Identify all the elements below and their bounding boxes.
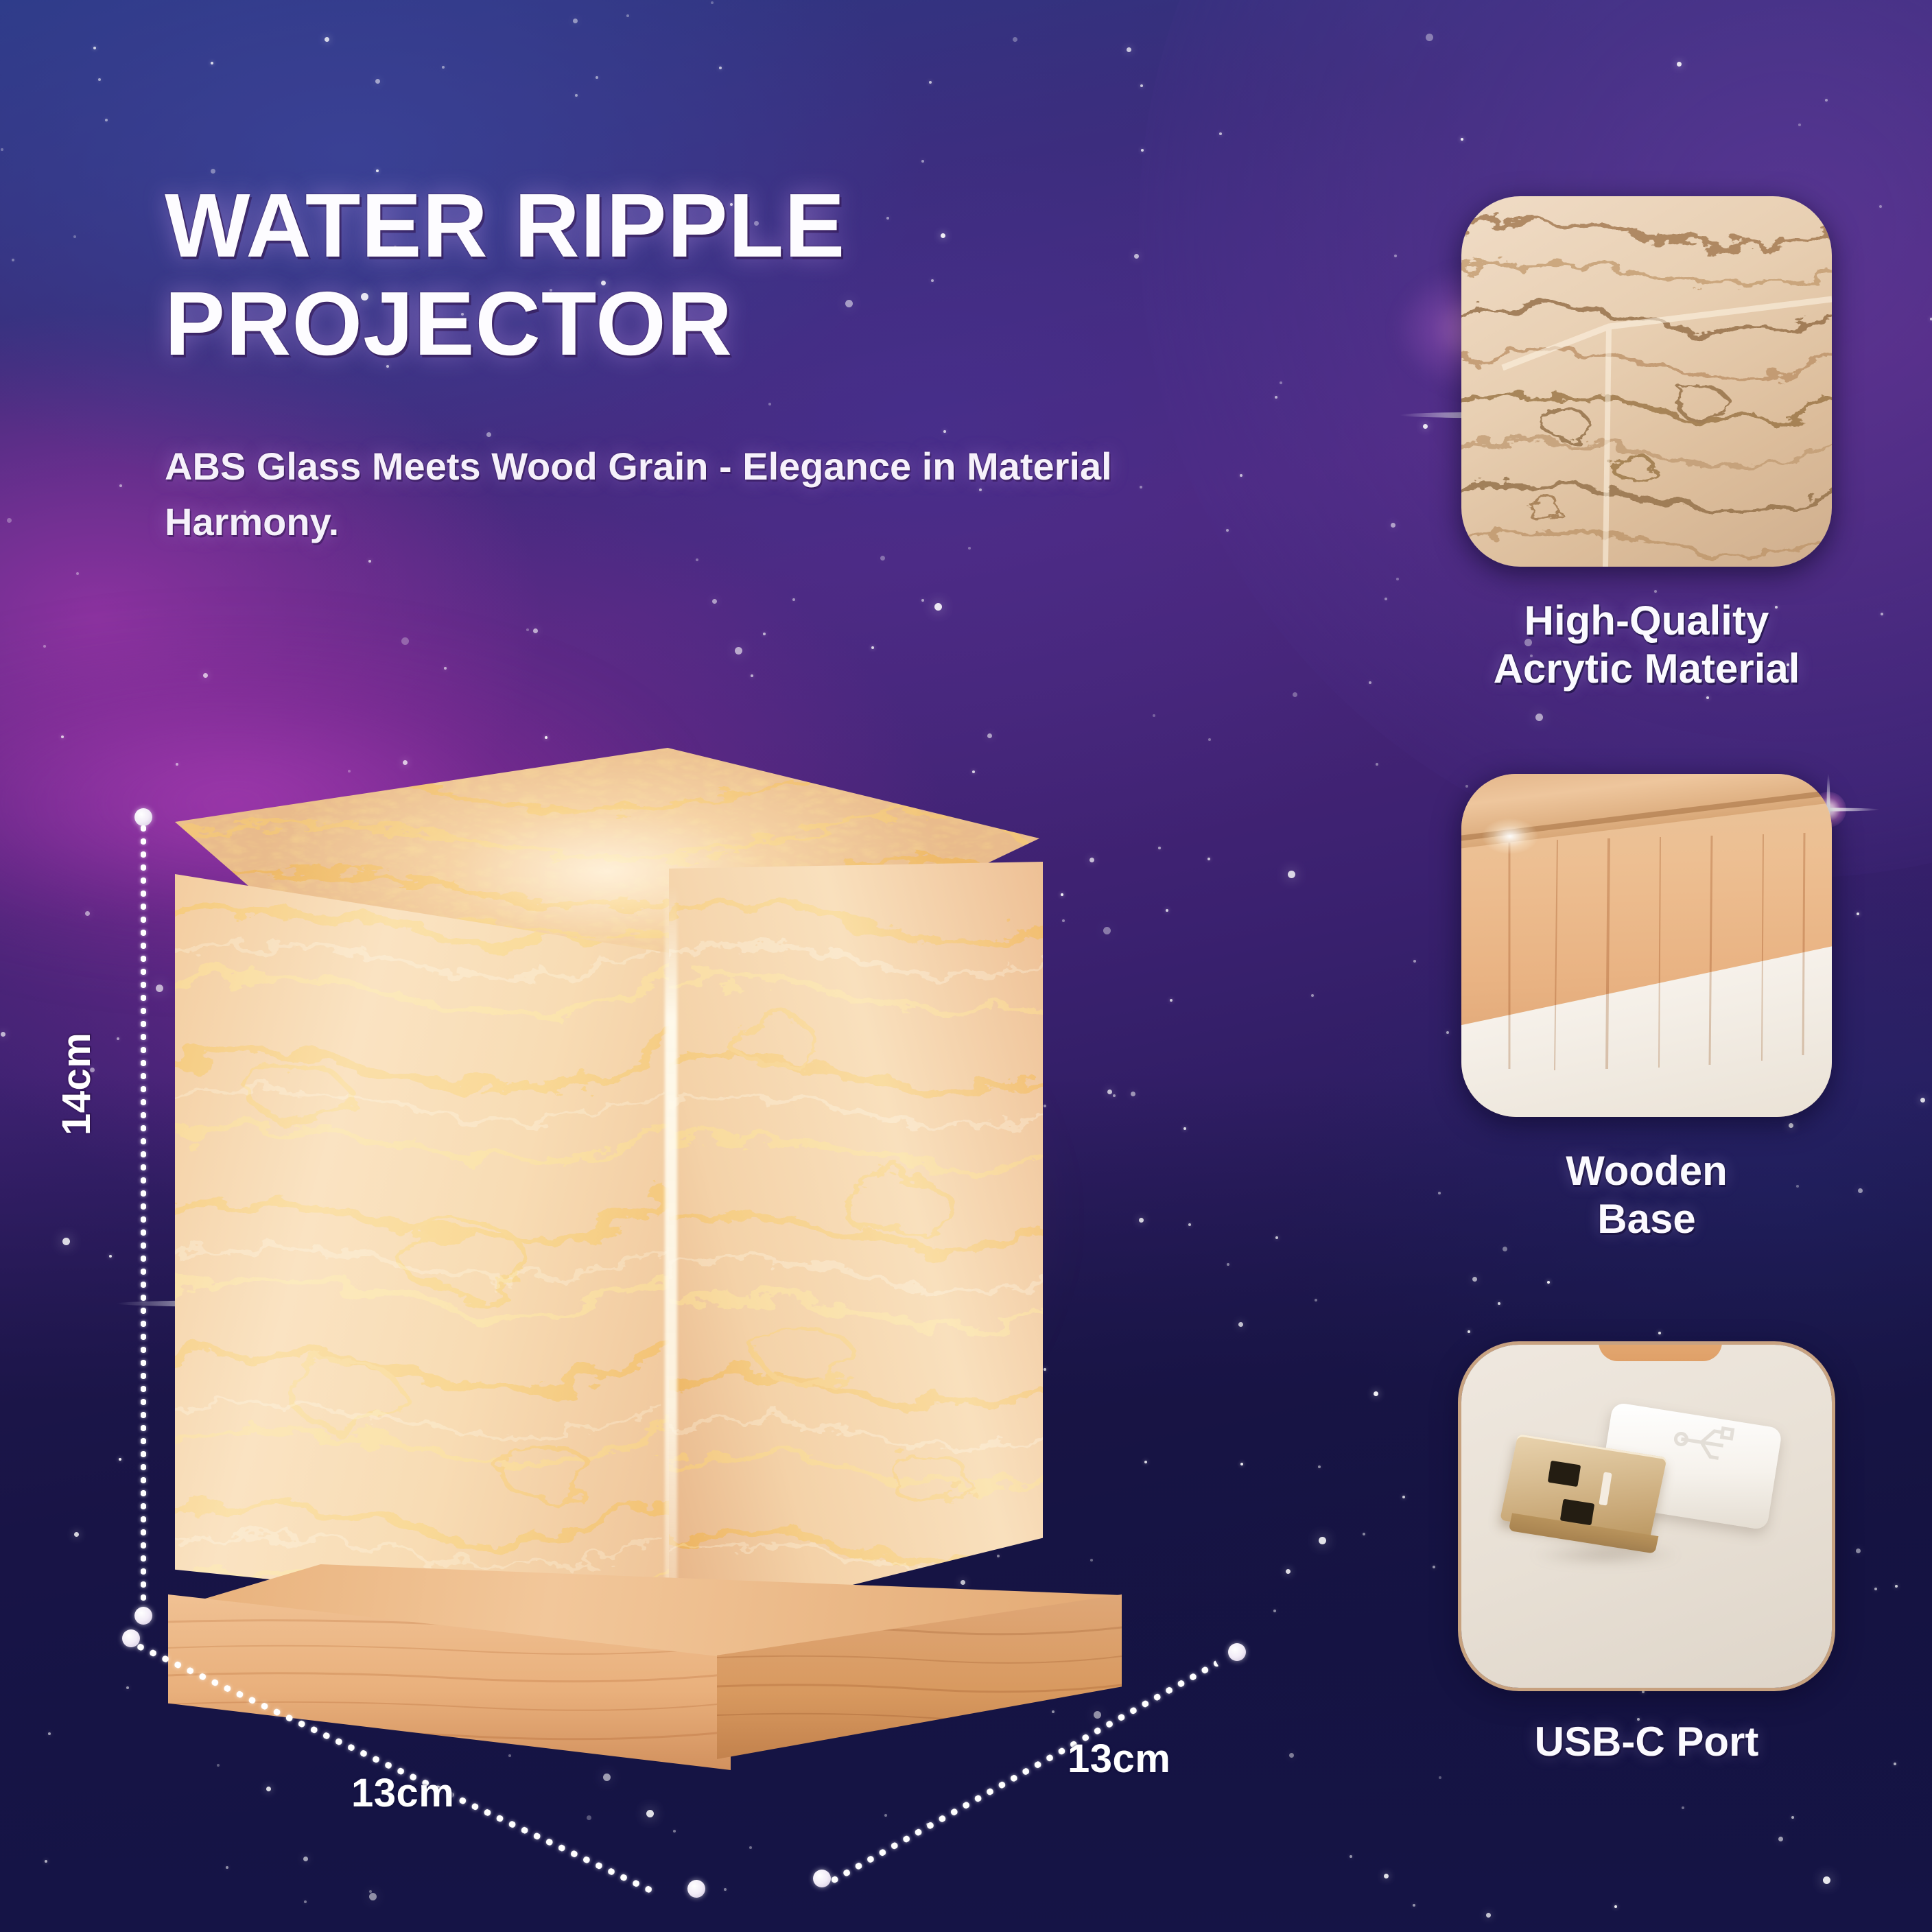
star bbox=[1823, 1876, 1830, 1884]
star bbox=[369, 1893, 377, 1900]
star bbox=[646, 1810, 654, 1817]
star bbox=[1384, 1874, 1389, 1878]
star bbox=[749, 1846, 752, 1849]
star bbox=[376, 169, 379, 172]
star bbox=[712, 599, 717, 604]
star bbox=[792, 598, 795, 601]
star bbox=[1706, 696, 1709, 699]
star bbox=[98, 78, 101, 81]
acrylic-label-line-2: Acrytic Material bbox=[1427, 645, 1866, 693]
star bbox=[1127, 47, 1131, 52]
usb-slot-top bbox=[1548, 1461, 1581, 1487]
star bbox=[304, 1900, 307, 1903]
star bbox=[1363, 1533, 1365, 1535]
star bbox=[43, 645, 46, 648]
star bbox=[442, 66, 445, 69]
star bbox=[1391, 523, 1395, 528]
star bbox=[1677, 62, 1682, 67]
star bbox=[1894, 1763, 1896, 1765]
usb-port-label: USB-C Port bbox=[1427, 1718, 1866, 1766]
star bbox=[486, 432, 491, 437]
star bbox=[12, 259, 14, 261]
star bbox=[1293, 692, 1297, 697]
dimension-line-vertical bbox=[141, 822, 146, 1611]
star bbox=[533, 628, 538, 633]
star bbox=[203, 673, 208, 678]
star bbox=[119, 484, 122, 487]
star bbox=[751, 674, 753, 677]
star bbox=[1318, 1465, 1321, 1468]
acrylic-label-line-1: High-Quality bbox=[1427, 597, 1866, 645]
dimension-dot-right-end bbox=[1228, 1643, 1246, 1661]
star bbox=[575, 94, 578, 97]
star bbox=[1350, 1855, 1352, 1858]
wooden-base-label: Wooden Base bbox=[1427, 1147, 1866, 1242]
star bbox=[1825, 99, 1828, 102]
star bbox=[696, 558, 698, 561]
star bbox=[526, 628, 529, 631]
cube-left-face bbox=[175, 874, 683, 1622]
star bbox=[105, 119, 108, 121]
star bbox=[929, 81, 932, 84]
star bbox=[724, 1888, 727, 1891]
star bbox=[444, 667, 447, 670]
feature-callout-usb-port[interactable]: USB-C Port bbox=[1427, 1345, 1866, 1766]
star bbox=[1376, 763, 1378, 766]
wooden-base-label-line-1: Wooden bbox=[1427, 1147, 1866, 1195]
star bbox=[1315, 1299, 1317, 1301]
acrylic-corner-edge bbox=[1461, 196, 1832, 567]
star bbox=[880, 556, 885, 561]
star bbox=[1369, 681, 1371, 684]
star bbox=[673, 1830, 676, 1833]
star bbox=[1426, 34, 1433, 41]
star bbox=[1141, 149, 1144, 152]
usb-port-label-line-1: USB-C Port bbox=[1427, 1718, 1866, 1766]
star bbox=[1881, 613, 1883, 615]
star bbox=[763, 633, 766, 635]
product-lamp bbox=[175, 748, 1218, 1722]
star bbox=[1319, 1537, 1326, 1544]
wooden-base bbox=[168, 1564, 1122, 1770]
usb-thumbnail[interactable] bbox=[1461, 1345, 1832, 1688]
star bbox=[76, 572, 79, 575]
star bbox=[943, 430, 946, 433]
star bbox=[596, 76, 598, 79]
star bbox=[1547, 1281, 1550, 1284]
headline-line-2: PROJECTOR bbox=[165, 275, 1235, 373]
star bbox=[85, 911, 90, 916]
star bbox=[1798, 123, 1801, 126]
star bbox=[934, 603, 942, 611]
star bbox=[1535, 714, 1543, 721]
star bbox=[1778, 1837, 1783, 1841]
star bbox=[1498, 1302, 1500, 1305]
star bbox=[93, 47, 96, 49]
star bbox=[626, 14, 629, 17]
subtitle-text: ABS Glass Meets Wood Grain - Elegance in… bbox=[165, 439, 1180, 550]
star bbox=[719, 67, 722, 69]
dimension-label-width: 13cm bbox=[351, 1770, 454, 1816]
star bbox=[48, 1732, 51, 1735]
star bbox=[1275, 396, 1277, 399]
star bbox=[587, 1815, 591, 1820]
star bbox=[211, 169, 215, 174]
star bbox=[1226, 529, 1229, 532]
star bbox=[1219, 132, 1222, 135]
star bbox=[45, 1860, 47, 1863]
star bbox=[711, 1, 714, 4]
star bbox=[1240, 474, 1242, 477]
dimension-dot-left-end bbox=[687, 1880, 705, 1898]
feature-callout-wooden-base[interactable]: Wooden Base bbox=[1427, 774, 1866, 1242]
star bbox=[1682, 1806, 1684, 1809]
star bbox=[375, 79, 380, 84]
star bbox=[1472, 1277, 1477, 1282]
wooden-base-thumbnail[interactable] bbox=[1461, 774, 1832, 1117]
ripple-highlight-left bbox=[175, 874, 683, 1622]
star bbox=[368, 560, 371, 563]
cube-right-face bbox=[669, 862, 1043, 1630]
dimension-height bbox=[134, 808, 152, 1625]
star bbox=[1614, 1905, 1617, 1908]
star bbox=[1879, 205, 1882, 208]
star bbox=[1385, 598, 1387, 600]
star bbox=[921, 160, 924, 163]
dimension-label-depth: 13cm bbox=[1068, 1736, 1170, 1782]
star bbox=[73, 235, 76, 238]
headline-block: WATER RIPPLE PROJECTOR bbox=[165, 177, 1235, 373]
star bbox=[1895, 1585, 1898, 1588]
star bbox=[1503, 1247, 1507, 1251]
usb-drop-shadow bbox=[1503, 1541, 1708, 1568]
cube-edge-highlight bbox=[665, 885, 677, 1633]
usb-thumb-wood-edge bbox=[1599, 1345, 1722, 1361]
star bbox=[303, 1857, 308, 1861]
star bbox=[921, 599, 924, 602]
star bbox=[325, 37, 329, 42]
star bbox=[1920, 1098, 1925, 1103]
star bbox=[1486, 1913, 1491, 1918]
star bbox=[1, 1032, 5, 1037]
star bbox=[1280, 381, 1282, 384]
acrylic-label: High-Quality Acrytic Material bbox=[1427, 597, 1866, 692]
star bbox=[266, 1787, 271, 1791]
wood-thumb-specular bbox=[1472, 812, 1548, 860]
star bbox=[1396, 578, 1399, 580]
star bbox=[1140, 84, 1143, 87]
star bbox=[573, 19, 578, 23]
star bbox=[1374, 1391, 1378, 1396]
star bbox=[211, 62, 213, 64]
star bbox=[1413, 1904, 1415, 1907]
star bbox=[1874, 1588, 1877, 1590]
star bbox=[1013, 37, 1017, 42]
star bbox=[1413, 960, 1416, 963]
star bbox=[871, 646, 874, 649]
dimension-dot-right-start bbox=[813, 1870, 831, 1887]
ripple-highlight-right bbox=[669, 862, 1043, 1630]
star bbox=[1394, 255, 1397, 257]
acrylic-thumbnail[interactable] bbox=[1461, 196, 1832, 567]
promo-canvas: WATER RIPPLE PROJECTOR ABS Glass Meets W… bbox=[0, 0, 1932, 1932]
star bbox=[1311, 994, 1314, 997]
star bbox=[61, 735, 64, 738]
star bbox=[7, 518, 12, 523]
headline-line-1: WATER RIPPLE bbox=[165, 177, 1235, 275]
star bbox=[1, 148, 3, 151]
star bbox=[1439, 1776, 1441, 1779]
star bbox=[884, 1814, 887, 1817]
star bbox=[1658, 1332, 1661, 1334]
star bbox=[226, 1866, 228, 1869]
star bbox=[1791, 1816, 1794, 1819]
wooden-base-label-line-2: Base bbox=[1427, 1195, 1866, 1243]
star bbox=[1468, 1330, 1470, 1333]
feature-callout-acrylic[interactable]: High-Quality Acrytic Material bbox=[1427, 196, 1866, 692]
star bbox=[401, 637, 409, 645]
star bbox=[74, 1532, 79, 1537]
star bbox=[62, 1238, 70, 1245]
star bbox=[768, 403, 771, 405]
star bbox=[1402, 1496, 1405, 1498]
dimension-label-height: 14cm bbox=[54, 1033, 99, 1135]
star bbox=[1461, 138, 1463, 141]
dimension-dot-bottom bbox=[134, 1607, 152, 1625]
star bbox=[735, 647, 742, 655]
